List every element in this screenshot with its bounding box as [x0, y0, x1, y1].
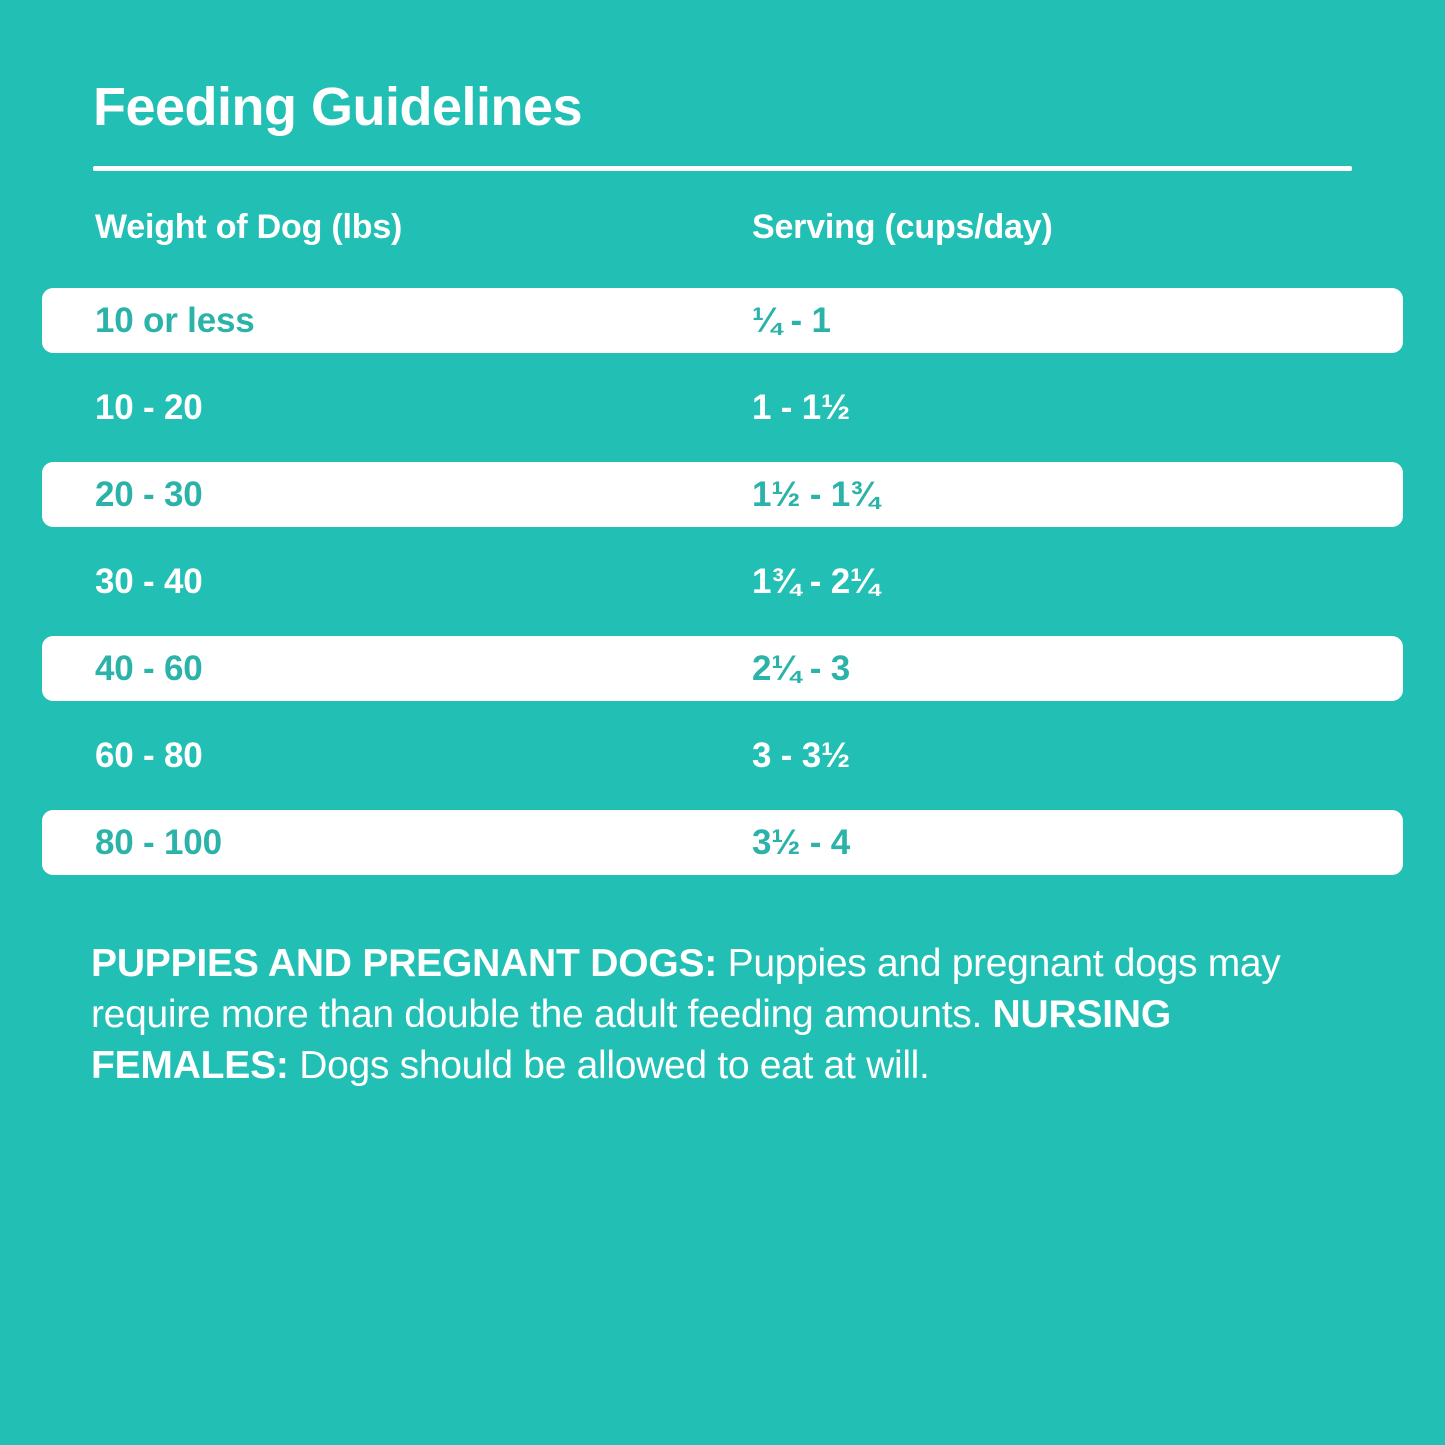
- cell-weight: 10 or less: [95, 288, 255, 353]
- cell-serving: 1 - 1½: [752, 375, 850, 440]
- table-row: 10 or less¼ - 1: [0, 288, 1445, 353]
- feeding-notes: PUPPIES AND PREGNANT DOGS: Puppies and p…: [91, 938, 1366, 1091]
- cell-weight: 80 - 100: [95, 810, 222, 875]
- footnote-lead-in: PUPPIES AND PREGNANT DOGS:: [91, 942, 717, 985]
- cell-weight: 40 - 60: [95, 636, 203, 701]
- cell-serving: 3½ - 4: [752, 810, 850, 875]
- feeding-guidelines-panel: Feeding Guidelines Weight of Dog (lbs) S…: [0, 0, 1445, 1445]
- cell-weight: 60 - 80: [95, 723, 203, 788]
- row-background: [42, 549, 1403, 614]
- cell-serving: 2¼ - 3: [752, 636, 850, 701]
- cell-weight: 30 - 40: [95, 549, 203, 614]
- cell-serving: 3 - 3½: [752, 723, 850, 788]
- table-header-row: Weight of Dog (lbs) Serving (cups/day): [0, 208, 1445, 270]
- table-row: 80 - 1003½ - 4: [0, 810, 1445, 875]
- column-header-weight: Weight of Dog (lbs): [95, 208, 402, 247]
- row-background: [42, 636, 1403, 701]
- cell-serving: ¼ - 1: [752, 288, 831, 353]
- row-background: [42, 810, 1403, 875]
- row-background: [42, 375, 1403, 440]
- table-row: 30 - 401¾ - 2¼: [0, 549, 1445, 614]
- cell-weight: 10 - 20: [95, 375, 203, 440]
- feeding-table: Weight of Dog (lbs) Serving (cups/day) 1…: [0, 208, 1445, 897]
- row-background: [42, 462, 1403, 527]
- footnote-text: Dogs should be allowed to eat at will.: [289, 1044, 930, 1087]
- row-background: [42, 723, 1403, 788]
- table-row: 60 - 803 - 3½: [0, 723, 1445, 788]
- page-title: Feeding Guidelines: [93, 78, 582, 137]
- table-row: 40 - 602¼ - 3: [0, 636, 1445, 701]
- table-body: 10 or less¼ - 110 - 201 - 1½20 - 301½ - …: [0, 288, 1445, 875]
- cell-serving: 1½ - 1¾: [752, 462, 879, 527]
- column-header-serving: Serving (cups/day): [752, 208, 1053, 247]
- table-row: 20 - 301½ - 1¾: [0, 462, 1445, 527]
- title-divider: [93, 166, 1352, 171]
- table-row: 10 - 201 - 1½: [0, 375, 1445, 440]
- cell-weight: 20 - 30: [95, 462, 203, 527]
- cell-serving: 1¾ - 2¼: [752, 549, 879, 614]
